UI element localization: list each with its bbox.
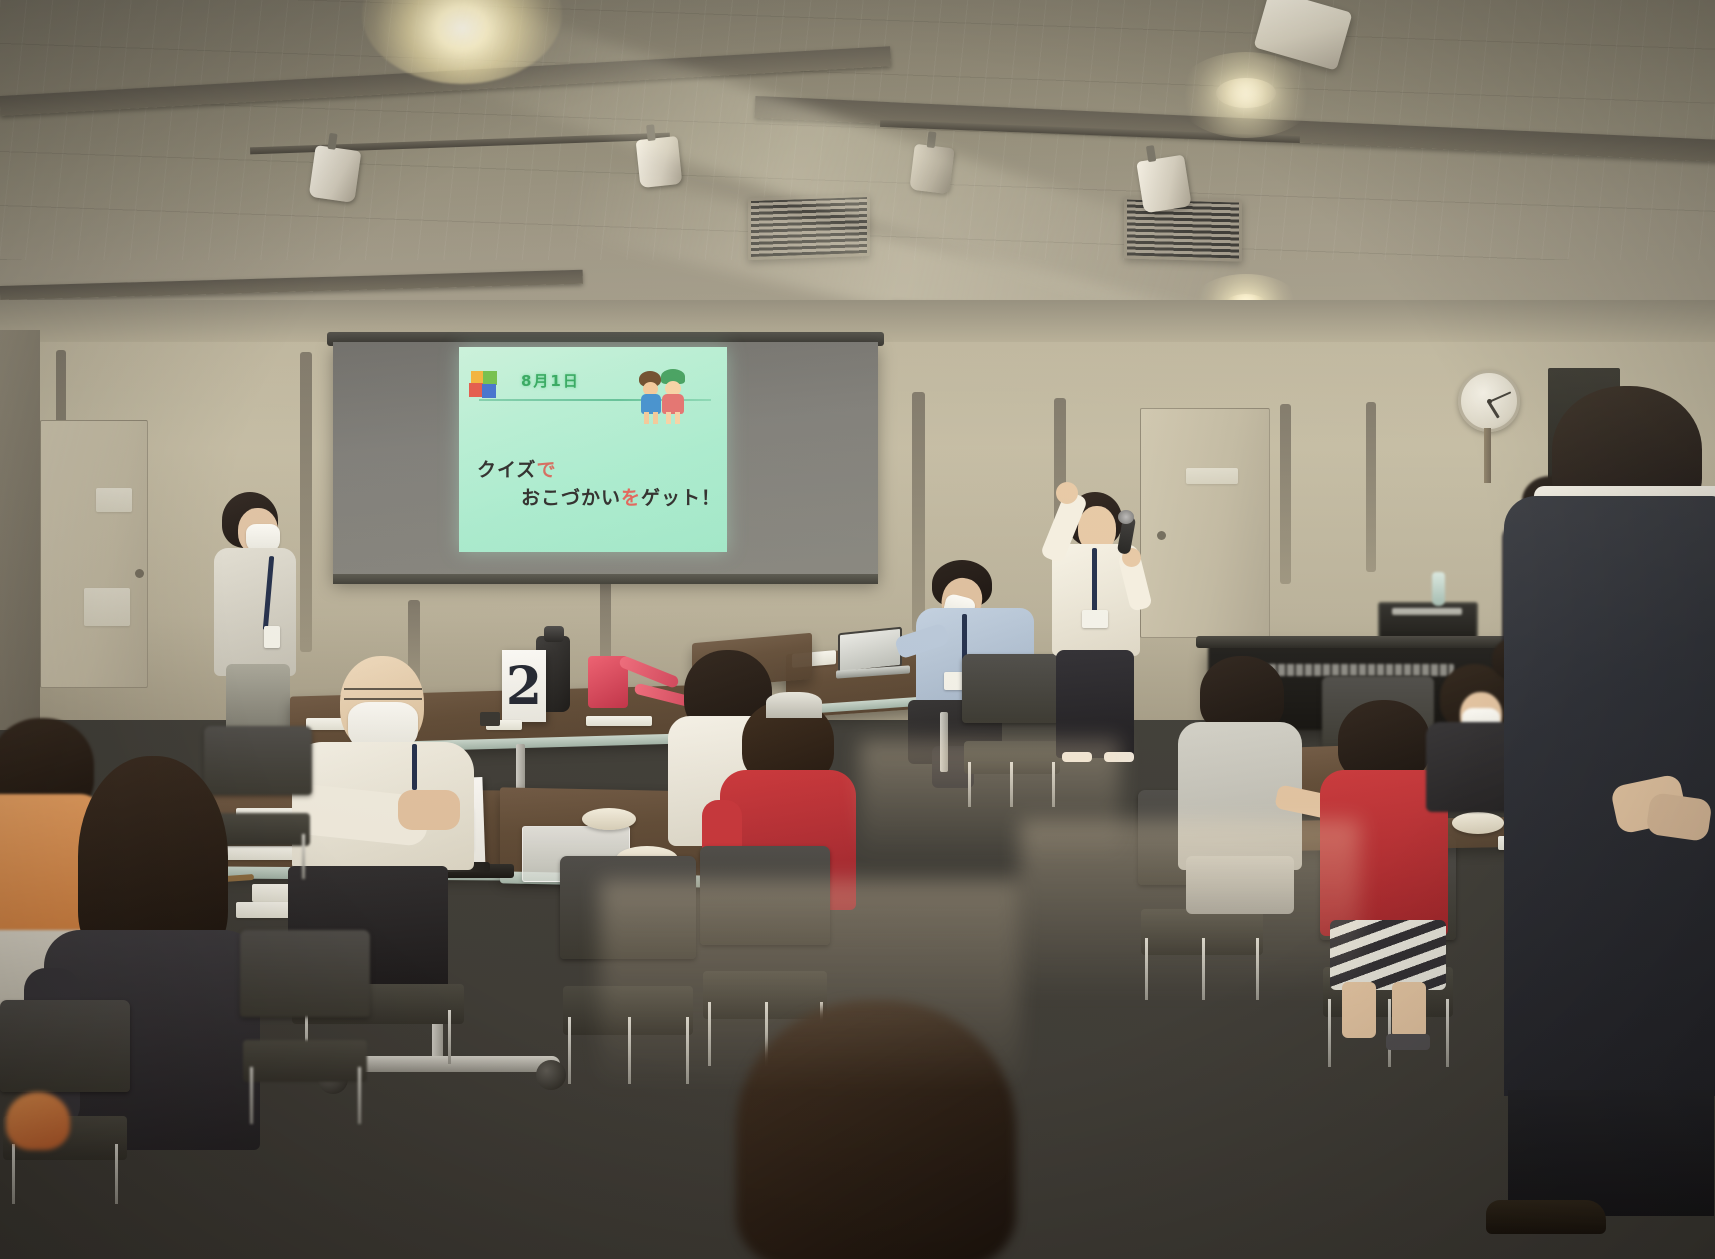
projected-slide: 8月1日 クイズで おこづかいをゲット！	[459, 347, 727, 552]
slide-headline-line-1: クイズで	[477, 455, 556, 482]
door-knob[interactable]	[135, 569, 144, 578]
door-back-right[interactable]	[1140, 408, 1270, 638]
slide-line2-accent-wo: を	[621, 487, 641, 509]
ceiling	[0, 0, 1715, 330]
av-rack-faceplate	[1392, 608, 1462, 615]
glasses-icon	[344, 688, 422, 700]
chair[interactable]	[240, 930, 370, 1120]
table-number-card-2: 2	[502, 650, 546, 722]
hair	[736, 1000, 1016, 1259]
slide-character-illustration	[635, 365, 695, 427]
thermos-cap	[544, 626, 564, 642]
name-badge	[264, 626, 280, 648]
water-bottle-on-cabinet	[1432, 572, 1445, 606]
door-vent-panel	[84, 588, 130, 626]
clock-centre-pin	[1487, 399, 1492, 404]
track-spotlight	[636, 136, 683, 188]
orange-object-foreground	[6, 1092, 70, 1150]
microphone-head	[1118, 510, 1134, 524]
dress-shoe	[1486, 1200, 1606, 1234]
raised-hand	[1056, 482, 1078, 504]
trousers	[1056, 650, 1134, 758]
sandal	[1386, 1034, 1430, 1050]
wall-column	[0, 330, 40, 730]
clasped-hands	[1645, 792, 1712, 842]
lanyard	[412, 744, 417, 790]
door-knob[interactable]	[1157, 531, 1166, 540]
wall-trim	[1280, 404, 1291, 584]
track-spotlight	[1136, 155, 1192, 214]
slide-line1-text: クイズ	[477, 459, 536, 481]
chair[interactable]	[962, 654, 1062, 804]
name-badge	[1082, 610, 1108, 628]
paper-sheet	[586, 716, 652, 726]
leg	[1342, 982, 1376, 1038]
lanyard	[1092, 548, 1097, 616]
hands	[398, 790, 460, 830]
shorts	[1186, 856, 1294, 914]
recessed-downlight	[1216, 78, 1276, 108]
ceiling-vent-left	[748, 194, 870, 260]
suit-trousers	[1508, 1090, 1714, 1216]
clock-minute-hand	[1489, 391, 1512, 403]
slide-headline-line-2: おこづかいをゲット！	[521, 483, 721, 510]
slide-line2-tail: ゲット！	[641, 487, 721, 509]
jacket	[214, 548, 296, 676]
clock-hour-hand	[1488, 402, 1500, 419]
small-device	[480, 712, 500, 726]
bowl	[582, 808, 636, 830]
slide-line2-text: おこづかい	[521, 487, 621, 509]
wall-switch-plate	[96, 488, 132, 512]
wall-trim	[300, 352, 312, 652]
hair	[1200, 656, 1284, 732]
clock-mounting-stem	[1484, 428, 1491, 483]
bowl	[1452, 812, 1504, 834]
door-sign	[1186, 468, 1238, 484]
piano-top-lid	[1196, 636, 1516, 648]
ceiling-beam	[0, 270, 583, 300]
shoe	[1104, 752, 1134, 762]
track-spotlight	[309, 145, 362, 203]
hair-band	[766, 692, 822, 718]
leg	[1392, 982, 1426, 1038]
door-back-left[interactable]	[40, 420, 148, 688]
slide-date: 8月1日	[521, 370, 580, 391]
wall-trim	[912, 392, 925, 632]
track-spotlight	[909, 144, 954, 195]
shoe	[1062, 752, 1092, 762]
wall-trim	[1366, 402, 1376, 572]
photo-scene: 8月1日 クイズで おこづかいをゲット！	[0, 0, 1715, 1259]
slide-line1-accent: で	[536, 459, 556, 481]
wall-clock	[1458, 370, 1520, 432]
projector-screen-bottom-bar	[333, 574, 878, 584]
chair[interactable]	[560, 856, 696, 1080]
table-leg	[940, 712, 948, 772]
striped-shorts	[1330, 920, 1446, 990]
